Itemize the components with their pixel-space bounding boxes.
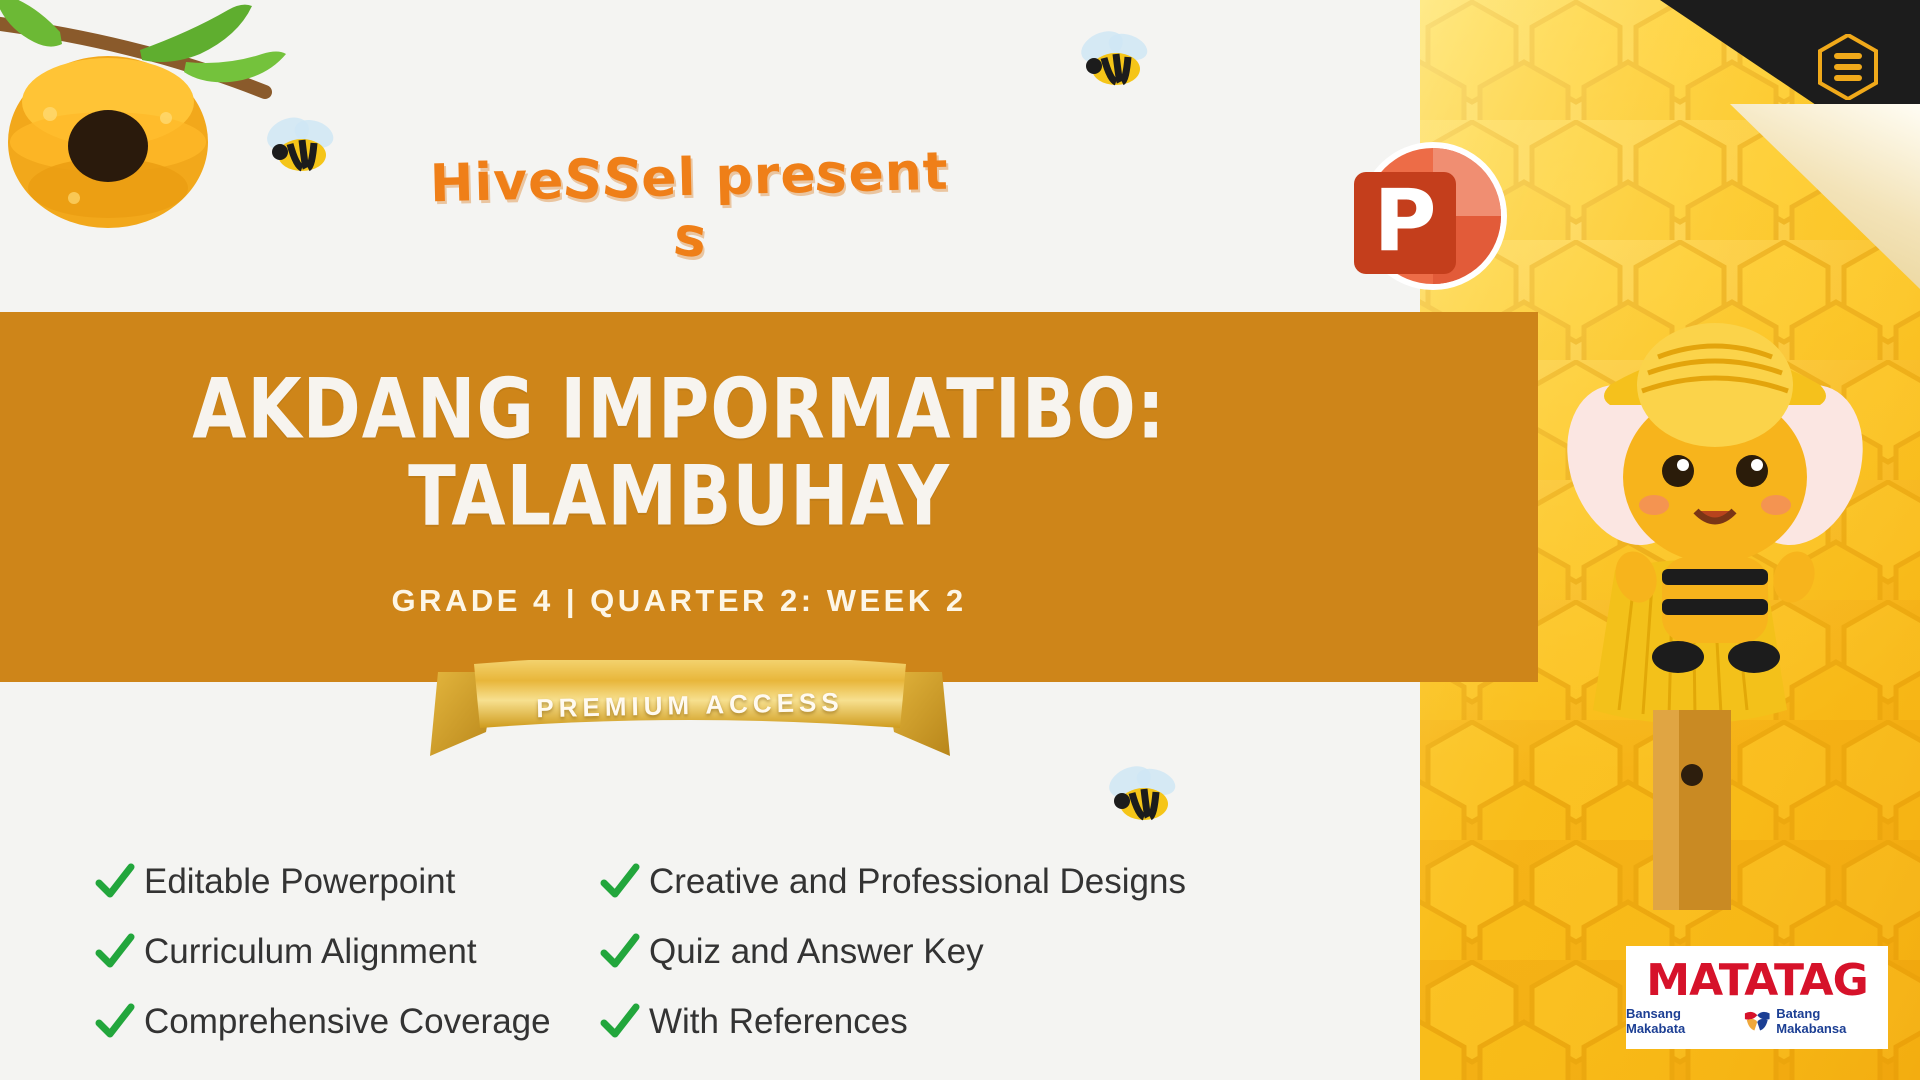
bee-icon xyxy=(258,110,343,180)
feature-label: Comprehensive Coverage xyxy=(144,1002,551,1042)
grade-quarter-week-label: GRADE 4 | QUARTER 2: WEEK 2 xyxy=(391,583,966,619)
title-band: AKDANG IMPORMATIBO: TALAMBUHAY GRADE 4 |… xyxy=(0,312,1538,682)
presents-s-4: s xyxy=(670,205,711,271)
page-title-line-1: AKDANG IMPORMATIBO: xyxy=(192,369,1166,450)
check-icon xyxy=(95,1002,135,1042)
presents-s-2: S xyxy=(598,146,645,213)
check-icon xyxy=(95,932,135,972)
matatag-tagline: Bansang Makabata Batang Makabansa xyxy=(1626,1006,1888,1036)
check-icon xyxy=(95,862,135,902)
feature-list: Editable Powerpoint Creative and Profess… xyxy=(95,862,1225,1042)
matatag-tagline-right: Batang Makabansa xyxy=(1776,1006,1888,1036)
feature-label: Creative and Professional Designs xyxy=(649,862,1186,902)
matatag-tagline-left: Bansang Makabata xyxy=(1626,1006,1738,1036)
feature-label: With References xyxy=(649,1002,908,1042)
matatag-wordmark: MATATAG xyxy=(1646,959,1867,1003)
page-title-line-2: TALAMBUHAY xyxy=(408,456,950,537)
presents-prefix: Hive xyxy=(429,151,565,214)
beehive-branch-illustration xyxy=(0,0,320,252)
bee-icon xyxy=(1072,25,1157,95)
check-icon xyxy=(600,862,640,902)
list-item: Creative and Professional Designs xyxy=(600,862,1225,902)
presents-suffix: ent xyxy=(848,142,950,204)
bee-icon xyxy=(1100,760,1185,830)
premium-access-ribbon: PREMIUM ACCESS xyxy=(430,660,950,770)
list-item: With References xyxy=(600,1002,1225,1042)
handshake-icon xyxy=(1743,1009,1771,1033)
check-icon xyxy=(600,1002,640,1042)
feature-label: Quiz and Answer Key xyxy=(649,932,984,972)
list-item: Editable Powerpoint xyxy=(95,862,600,902)
presents-mid: el pre xyxy=(641,145,818,209)
feature-label: Curriculum Alignment xyxy=(144,932,477,972)
list-item: Curriculum Alignment xyxy=(95,932,600,972)
brand-presents-headline: HiveSSel presents xyxy=(429,142,952,275)
list-item: Quiz and Answer Key xyxy=(600,932,1225,972)
list-item: Comprehensive Coverage xyxy=(95,1002,600,1042)
feature-label: Editable Powerpoint xyxy=(144,862,455,902)
check-icon xyxy=(600,932,640,972)
presents-s-3: s xyxy=(812,141,853,207)
hexagon-brand-logo-icon xyxy=(1818,34,1878,100)
matatag-logo: MATATAG Bansang Makabata Batang Makabans… xyxy=(1626,946,1888,1049)
